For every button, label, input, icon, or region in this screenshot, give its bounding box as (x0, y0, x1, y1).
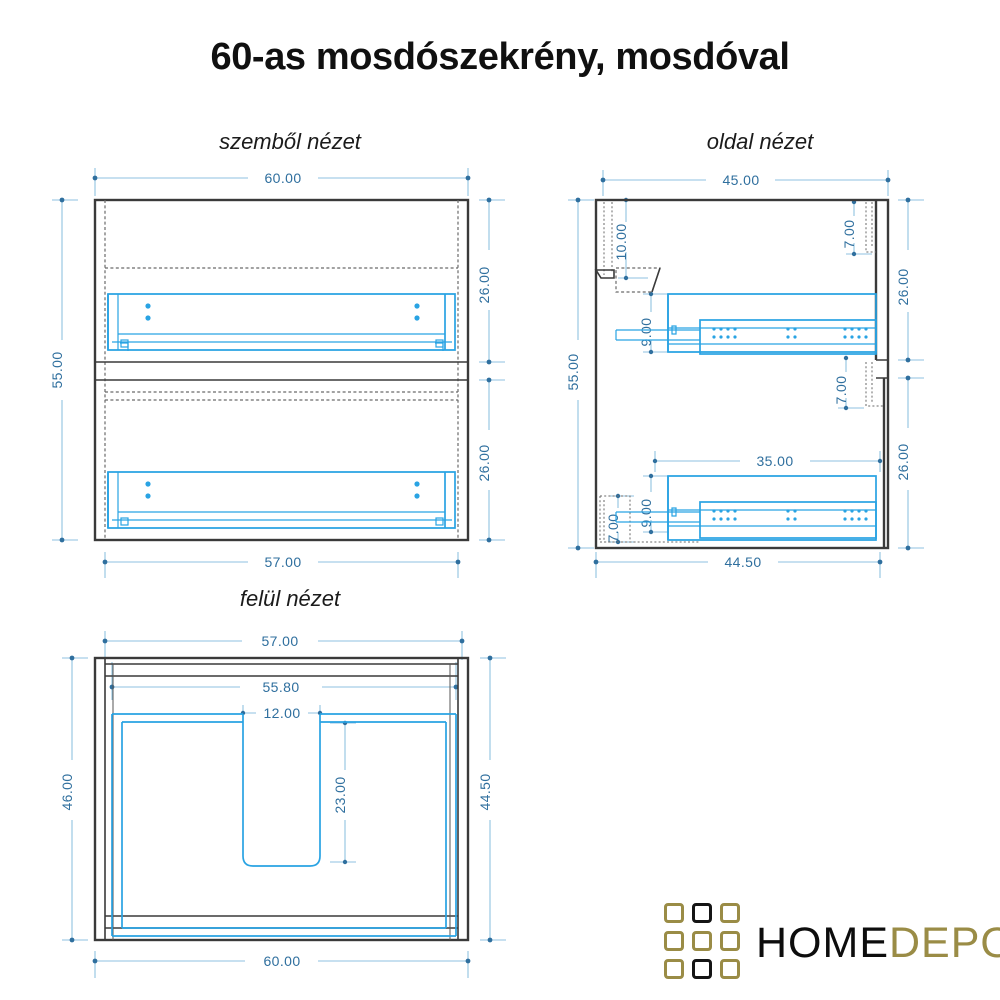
front-side-panel-hidden (105, 200, 458, 540)
top-dim-cutout-width-text: 12.00 (263, 705, 300, 721)
side-dim-hanger-left-lower-text: 7.00 (605, 514, 621, 543)
top-dim-outer-depth: 46.00 (59, 656, 88, 943)
nine-square-grid-icon (664, 903, 744, 983)
top-dim-top-inner: 55.80 (110, 662, 459, 700)
side-upper-drawer (616, 294, 876, 354)
top-dim-top-inner-text: 55.80 (262, 679, 299, 695)
front-dim-upper-drawer: 26.00 (476, 198, 505, 365)
side-dim-lower-drawer-text: 26.00 (895, 443, 911, 480)
top-dim-cutout-width: 12.00 (241, 705, 322, 722)
top-view-group: 57.00 55.80 12.00 23.00 (59, 631, 506, 978)
logo-depo-text: DEPO (889, 919, 1000, 967)
front-dim-upper-drawer-text: 26.00 (476, 266, 492, 303)
side-dim-bottom-depth-text: 44.50 (724, 554, 761, 570)
side-dim-bottom-depth: 44.50 (594, 552, 883, 578)
side-dim-slide-lower-text: 9.00 (638, 499, 654, 528)
side-hanger-bracket-mid-right (866, 362, 884, 406)
front-dim-bottom-width: 57.00 (103, 552, 461, 578)
side-dim-hanger-right-lower: 7.00 (833, 356, 864, 410)
side-dim-total-height: 55.00 (565, 198, 594, 551)
front-view-group: 60.00 55.00 26.00 26.00 (49, 168, 505, 578)
top-dim-inner-width: 57.00 (103, 631, 465, 660)
front-dim-total-height: 55.00 (49, 198, 78, 543)
top-dim-outer-depth-text: 46.00 (59, 773, 75, 810)
top-dim-cutout-depth-text: 23.00 (332, 776, 348, 813)
homedepo-logo[interactable]: HOMEDEPO (664, 903, 996, 989)
front-hidden-shelf-lower (105, 392, 458, 400)
front-dim-lower-drawer-text: 26.00 (476, 444, 492, 481)
side-dim-drawer-length-text: 35.00 (756, 453, 793, 469)
side-dim-hanger-right-upper: 7.00 (841, 200, 872, 256)
top-cabinet-outline (95, 658, 468, 940)
top-dim-cutout-depth: 23.00 (330, 721, 356, 864)
front-drawer-divider (95, 362, 468, 380)
top-back-rail (105, 664, 458, 676)
top-side-panels (105, 658, 458, 940)
side-dim-drawer-length: 35.00 (653, 451, 882, 472)
side-dim-slide-lower: 9.00 (638, 474, 669, 534)
side-mid-edge (876, 360, 888, 378)
front-dim-total-height-text: 55.00 (49, 351, 65, 388)
top-dim-inner-depth: 44.50 (477, 656, 506, 943)
top-front-rail (105, 916, 458, 928)
top-dim-outer-width-text: 60.00 (263, 953, 300, 969)
front-dim-top-width: 60.00 (93, 168, 471, 196)
side-dim-slide-upper-text: 9.00 (638, 318, 654, 347)
side-dim-top-depth-text: 45.00 (722, 172, 759, 188)
front-dim-bottom-width-text: 57.00 (264, 554, 301, 570)
logo-home-text: HOME (756, 919, 889, 967)
side-dim-top-depth: 45.00 (601, 170, 891, 196)
front-upper-drawer (108, 294, 455, 351)
top-dim-inner-depth-text: 44.50 (477, 773, 493, 810)
top-sink-cutout (243, 714, 320, 866)
front-cabinet-outline (95, 200, 468, 540)
side-cabinet-outline (596, 200, 888, 548)
side-dim-slide-upper: 9.00 (638, 292, 669, 354)
side-dim-total-height-text: 55.00 (565, 353, 581, 390)
top-countertop (112, 714, 456, 936)
side-dim-hanger-top-text: 10.00 (613, 223, 629, 260)
front-dim-top-width-text: 60.00 (264, 170, 301, 186)
side-back-panel (876, 200, 884, 548)
side-lower-drawer (616, 476, 876, 540)
side-lower-slide-dots (712, 509, 867, 520)
technical-drawing-canvas: .s { fill:none; stroke:#3a3a3a; stroke-w… (0, 0, 1000, 1000)
side-dim-upper-drawer: 26.00 (895, 198, 924, 363)
side-hanger-bracket-top-right (866, 202, 876, 252)
logo-wordmark: HOMEDEPO (756, 917, 1000, 969)
front-lower-drawer (108, 472, 455, 528)
top-dim-outer-width: 60.00 (93, 951, 471, 978)
top-dim-inner-width-text: 57.00 (261, 633, 298, 649)
side-dim-hanger-right-upper-text: 7.00 (841, 220, 857, 249)
side-dim-upper-drawer-text: 26.00 (895, 268, 911, 305)
side-dim-lower-drawer: 26.00 (895, 376, 924, 551)
drawing-sheet: 60-as mosdószekrény, mosdóval szemből né… (0, 0, 1000, 1000)
side-dim-hanger-right-lower-text: 7.00 (833, 376, 849, 405)
side-view-group: 45.00 55.00 10.00 7.00 (565, 170, 924, 578)
front-dim-lower-drawer: 26.00 (476, 378, 505, 543)
side-upper-slide-dots (712, 327, 867, 338)
